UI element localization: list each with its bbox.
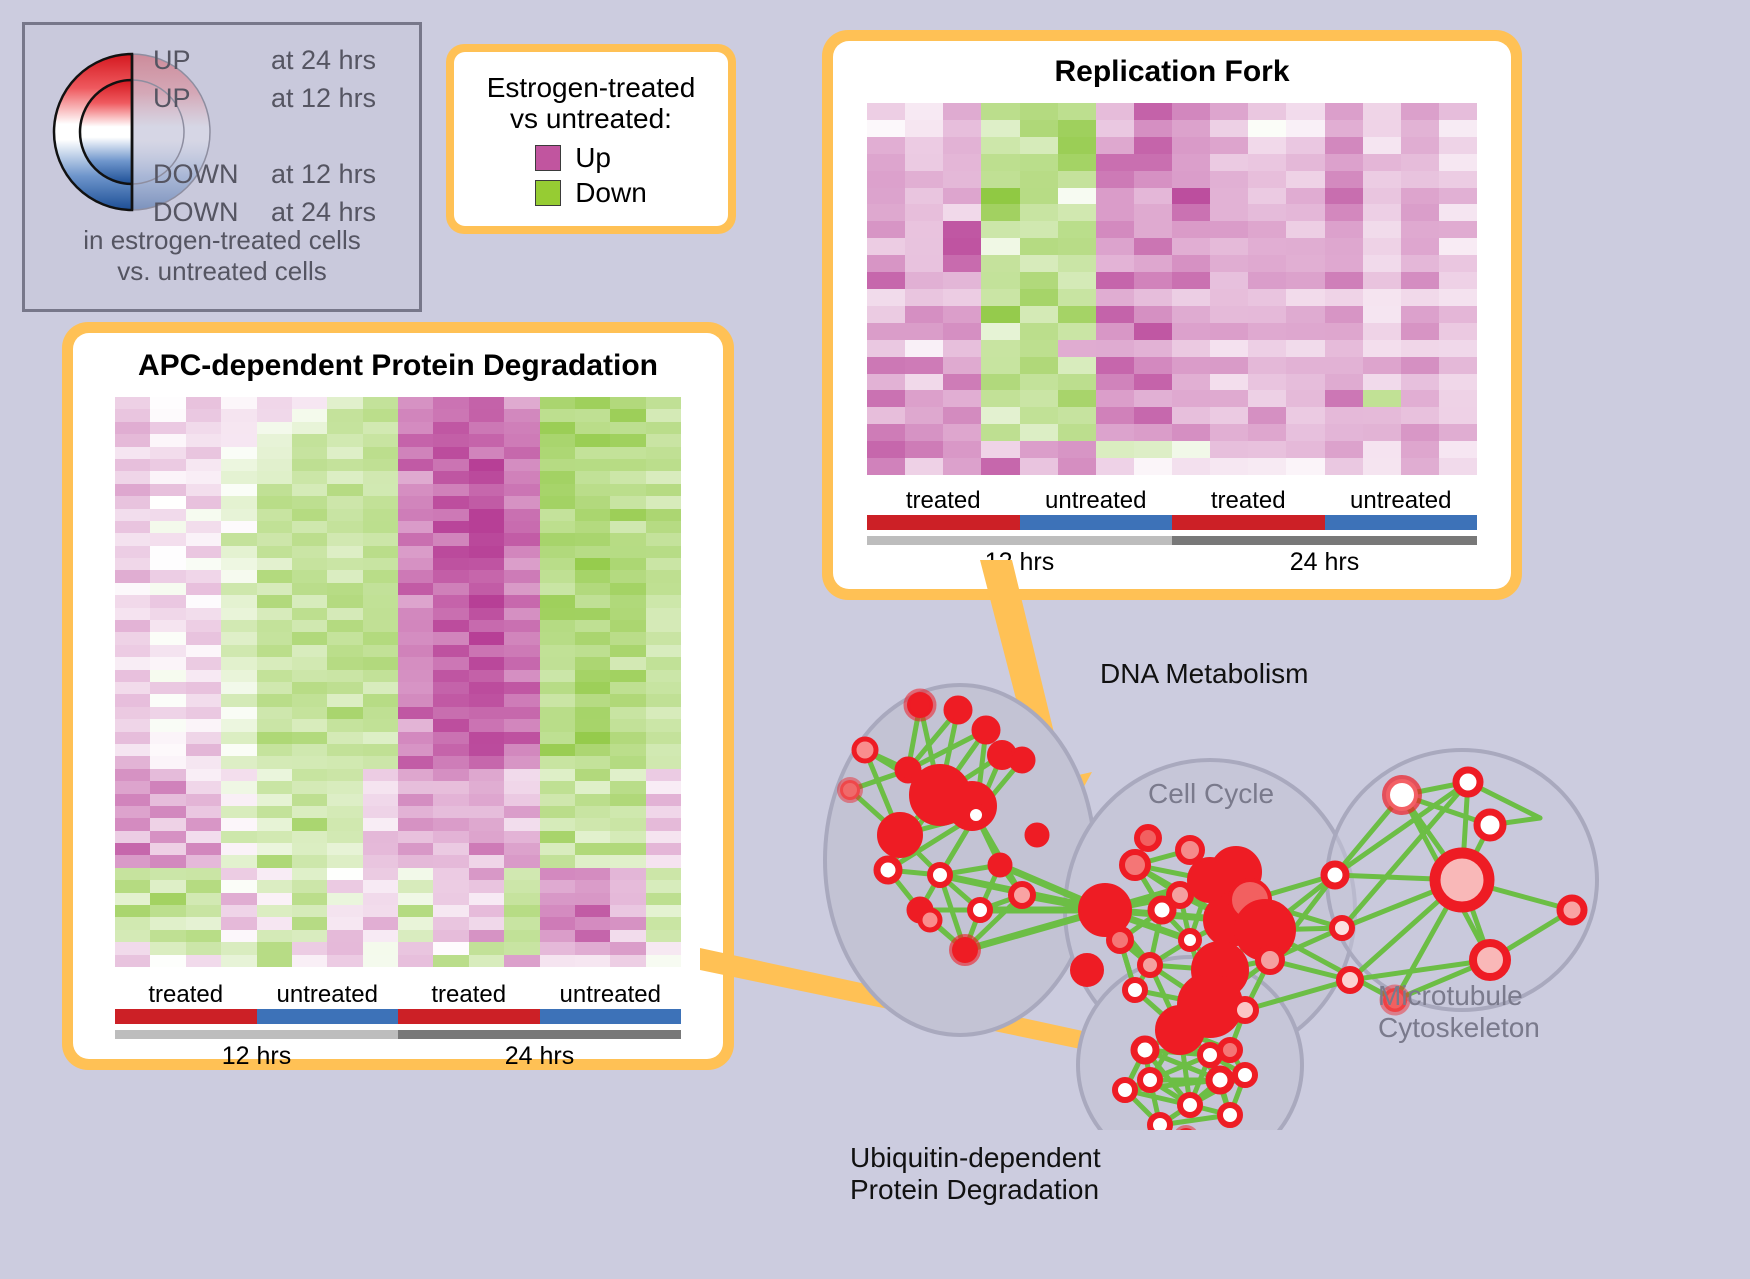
heatmap-cell	[115, 893, 150, 905]
heatmap-cell	[540, 880, 575, 892]
heatmap-cell	[398, 670, 433, 682]
heatmap-cell	[363, 546, 398, 558]
heatmap-cell	[1058, 390, 1096, 407]
heatmap-cell	[1134, 221, 1172, 238]
heatmap-cell	[398, 831, 433, 843]
heatmap-cell	[469, 632, 504, 644]
heatmap-cell	[1096, 272, 1134, 289]
heatmap-cell	[1401, 272, 1439, 289]
heatmap-cell	[186, 670, 221, 682]
apc-degradation-inner: APC-dependent Protein Degradation treate…	[73, 333, 723, 1059]
heatmap-cell	[504, 509, 539, 521]
heatmap-cell	[1058, 255, 1096, 272]
heatmap-cell	[540, 434, 575, 446]
heatmap-cell	[292, 595, 327, 607]
heatmap-cell	[1286, 120, 1324, 137]
heatmap-cell	[867, 323, 905, 340]
heatmap-cell	[575, 905, 610, 917]
heatmap-cell	[1058, 323, 1096, 340]
heatmap-cell	[115, 459, 150, 471]
heatmap-cell	[1020, 441, 1058, 458]
heatmap-cell	[1439, 340, 1477, 357]
heatmap-cell	[646, 719, 681, 731]
heatmap-cell	[575, 831, 610, 843]
heatmap-cell	[981, 238, 1019, 255]
heatmap-cell	[905, 171, 943, 188]
heatmap-cell	[575, 509, 610, 521]
heatmap-cell	[257, 471, 292, 483]
updown-header-line-1: Estrogen-treated	[487, 72, 696, 103]
heatmap-cell	[943, 390, 981, 407]
heatmap-cell	[221, 645, 256, 657]
heatmap-cell	[1172, 323, 1210, 340]
heatmap-cell	[150, 670, 185, 682]
heatmap-cell	[363, 595, 398, 607]
heatmap-cell	[1286, 424, 1324, 441]
heatmap-cell	[1363, 323, 1401, 340]
heatmap-cell	[327, 880, 362, 892]
heatmap-cell	[646, 632, 681, 644]
heatmap-cell	[1325, 188, 1363, 205]
heatmap-cell	[292, 769, 327, 781]
heatmap-cell	[257, 422, 292, 434]
heatmap-cell	[115, 583, 150, 595]
heatmap-cell	[186, 707, 221, 719]
heatmap-cell	[469, 769, 504, 781]
heatmap-cell	[1210, 390, 1248, 407]
heatmap-cell	[221, 546, 256, 558]
heatmap-cell	[221, 595, 256, 607]
heatmap-cell	[398, 855, 433, 867]
heatmap-cell	[150, 880, 185, 892]
heatmap-cell	[221, 447, 256, 459]
heatmap-cell	[1325, 424, 1363, 441]
heatmap-cell	[943, 407, 981, 424]
heatmap-cell	[292, 620, 327, 632]
heatmap-cell	[1020, 221, 1058, 238]
heatmap-cell	[575, 917, 610, 929]
heatmap-cell	[1058, 103, 1096, 120]
heatmap-cell	[433, 868, 468, 880]
heatmap-cell	[1248, 204, 1286, 221]
heatmap-cell	[1248, 120, 1286, 137]
heatmap-cell	[292, 732, 327, 744]
heatmap-cell	[905, 221, 943, 238]
heatmap-cell	[327, 620, 362, 632]
heatmap-cell	[292, 955, 327, 967]
heatmap-cell	[646, 397, 681, 409]
condition-label: treated	[115, 981, 257, 1009]
heatmap-cell	[1401, 188, 1439, 205]
heatmap-cell	[943, 154, 981, 171]
apc-degradation-axis: treateduntreatedtreateduntreated 12 hrs2…	[115, 981, 681, 1071]
heatmap-cell	[1363, 255, 1401, 272]
heatmap-cell	[540, 831, 575, 843]
heatmap-cell	[905, 424, 943, 441]
heatmap-cell	[150, 756, 185, 768]
cluster-label-dna-metabolism: DNA Metabolism	[1100, 658, 1309, 690]
heatmap-cell	[150, 471, 185, 483]
heatmap-cell	[610, 942, 645, 954]
heatmap-cell	[1134, 120, 1172, 137]
heatmap-cell	[1248, 407, 1286, 424]
heatmap-cell	[469, 434, 504, 446]
heatmap-cell	[1020, 357, 1058, 374]
heatmap-cell	[1058, 171, 1096, 188]
heatmap-cell	[327, 682, 362, 694]
heatmap-cell	[540, 409, 575, 421]
heatmap-cell	[867, 289, 905, 306]
heatmap-cell	[1058, 306, 1096, 323]
heatmap-cell	[1286, 204, 1324, 221]
heatmap-cell	[575, 893, 610, 905]
heatmap-cell	[610, 707, 645, 719]
heatmap-cell	[1325, 306, 1363, 323]
heatmap-cell	[981, 171, 1019, 188]
heatmap-cell	[292, 905, 327, 917]
heatmap-cell	[115, 794, 150, 806]
heatmap-cell	[327, 397, 362, 409]
heatmap-cell	[292, 707, 327, 719]
heatmap-cell	[398, 769, 433, 781]
heatmap-cell	[1363, 103, 1401, 120]
heatmap-cell	[943, 188, 981, 205]
heatmap-cell	[1096, 458, 1134, 475]
heatmap-cell	[1401, 154, 1439, 171]
heatmap-cell	[186, 422, 221, 434]
heatmap-cell	[257, 595, 292, 607]
colorbar-legend-rows: UP at 24 hrs UP at 12 hrs DOWN at 12 hrs…	[153, 45, 418, 235]
heatmap-cell	[115, 868, 150, 880]
heatmap-cell	[575, 558, 610, 570]
heatmap-cell	[221, 707, 256, 719]
legend-item-up: Up	[535, 140, 647, 175]
heatmap-cell	[433, 509, 468, 521]
heatmap-cell	[1172, 306, 1210, 323]
heatmap-cell	[504, 645, 539, 657]
heatmap-cell	[433, 930, 468, 942]
heatmap-cell	[1172, 407, 1210, 424]
heatmap-cell	[115, 620, 150, 632]
heatmap-cell	[943, 272, 981, 289]
heatmap-cell	[610, 409, 645, 421]
heatmap-cell	[867, 340, 905, 357]
legend-item-down: Down	[535, 175, 647, 210]
heatmap-cell	[867, 374, 905, 391]
heatmap-cell	[905, 407, 943, 424]
heatmap-cell	[1172, 272, 1210, 289]
heatmap-cell	[646, 645, 681, 657]
heatmap-cell	[943, 204, 981, 221]
heatmap-cell	[221, 682, 256, 694]
heatmap-cell	[292, 570, 327, 582]
heatmap-cell	[504, 570, 539, 582]
heatmap-cell	[257, 781, 292, 793]
heatmap-cell	[1096, 221, 1134, 238]
heatmap-cell	[504, 533, 539, 545]
heatmap-cell	[398, 806, 433, 818]
heatmap-cell	[363, 632, 398, 644]
heatmap-cell	[943, 424, 981, 441]
heatmap-cell	[540, 756, 575, 768]
heatmap-cell	[150, 682, 185, 694]
heatmap-cell	[150, 917, 185, 929]
heatmap-cell	[398, 434, 433, 446]
heatmap-cell	[943, 357, 981, 374]
heatmap-cell	[327, 781, 362, 793]
heatmap-cell	[504, 682, 539, 694]
heatmap-cell	[469, 645, 504, 657]
heatmap-cell	[1172, 154, 1210, 171]
heatmap-cell	[1439, 374, 1477, 391]
heatmap-cell	[1325, 390, 1363, 407]
heatmap-cell	[327, 955, 362, 967]
heatmap-cell	[115, 880, 150, 892]
heatmap-cell	[469, 583, 504, 595]
heatmap-cell	[150, 608, 185, 620]
heatmap-cell	[1286, 340, 1324, 357]
heatmap-cell	[221, 657, 256, 669]
heatmap-cell	[186, 459, 221, 471]
heatmap-cell	[1210, 289, 1248, 306]
heatmap-cell	[115, 422, 150, 434]
heatmap-cell	[115, 732, 150, 744]
heatmap-cell	[610, 769, 645, 781]
heatmap-cell	[1286, 289, 1324, 306]
heatmap-cell	[1020, 188, 1058, 205]
heatmap-cell	[398, 484, 433, 496]
heatmap-cell	[981, 137, 1019, 154]
heatmap-cell	[433, 608, 468, 620]
heatmap-cell	[610, 583, 645, 595]
heatmap-cell	[610, 434, 645, 446]
heatmap-cell	[504, 843, 539, 855]
apc-degradation-title: APC-dependent Protein Degradation	[73, 333, 723, 383]
heatmap-cell	[1439, 188, 1477, 205]
heatmap-cell	[1286, 357, 1324, 374]
heatmap-cell	[504, 769, 539, 781]
heatmap-cell	[610, 632, 645, 644]
heatmap-cell	[327, 632, 362, 644]
heatmap-cell	[1134, 103, 1172, 120]
heatmap-cell	[610, 645, 645, 657]
heatmap-cell	[469, 930, 504, 942]
heatmap-cell	[646, 496, 681, 508]
heatmap-cell	[905, 272, 943, 289]
heatmap-cell	[221, 732, 256, 744]
heatmap-cell	[257, 942, 292, 954]
heatmap-cell	[905, 390, 943, 407]
heatmap-cell	[186, 521, 221, 533]
heatmap-cell	[1058, 374, 1096, 391]
heatmap-cell	[257, 905, 292, 917]
replication-fork-heatmap	[867, 103, 1477, 475]
heatmap-cell	[540, 955, 575, 967]
timepoint-color-segment	[1172, 536, 1477, 545]
heatmap-cell	[610, 422, 645, 434]
heatmap-cell	[1020, 374, 1058, 391]
heatmap-cell	[115, 694, 150, 706]
heatmap-cell	[504, 608, 539, 620]
heatmap-cell	[1172, 103, 1210, 120]
heatmap-cell	[292, 459, 327, 471]
heatmap-cell	[981, 204, 1019, 221]
heatmap-cell	[610, 955, 645, 967]
heatmap-cell	[1363, 424, 1401, 441]
heatmap-cell	[257, 583, 292, 595]
heatmap-cell	[646, 434, 681, 446]
heatmap-cell	[257, 670, 292, 682]
heatmap-cell	[398, 657, 433, 669]
timepoint-labels: 12 hrs24 hrs	[115, 1042, 681, 1071]
heatmap-cell	[1020, 407, 1058, 424]
heatmap-cell	[540, 744, 575, 756]
heatmap-cell	[1172, 374, 1210, 391]
heatmap-cell	[575, 818, 610, 830]
heatmap-cell	[610, 509, 645, 521]
heatmap-cell	[469, 794, 504, 806]
heatmap-cell	[469, 682, 504, 694]
heatmap-cell	[610, 930, 645, 942]
heatmap-cell	[1210, 188, 1248, 205]
heatmap-cell	[1325, 407, 1363, 424]
heatmap-cell	[943, 103, 981, 120]
heatmap-cell	[610, 657, 645, 669]
heatmap-cell	[257, 756, 292, 768]
heatmap-cell	[540, 855, 575, 867]
heatmap-cell	[150, 719, 185, 731]
heatmap-cell	[575, 397, 610, 409]
heatmap-cell	[575, 608, 610, 620]
colorbar-legend-footer: in estrogen-treated cells vs. untreated …	[25, 225, 419, 286]
heatmap-cell	[469, 893, 504, 905]
heatmap-cell	[292, 756, 327, 768]
heatmap-cell	[398, 682, 433, 694]
heatmap-cell	[575, 459, 610, 471]
heatmap-cell	[1172, 137, 1210, 154]
heatmap-cell	[1325, 357, 1363, 374]
heatmap-cell	[540, 645, 575, 657]
heatmap-cell	[327, 744, 362, 756]
heatmap-cell	[646, 620, 681, 632]
heatmap-cell	[1134, 255, 1172, 272]
legend-value: at 24 hrs	[271, 45, 376, 76]
heatmap-cell	[1325, 238, 1363, 255]
heatmap-cell	[540, 632, 575, 644]
heatmap-cell	[610, 744, 645, 756]
heatmap-cell	[115, 558, 150, 570]
heatmap-cell	[1363, 441, 1401, 458]
heatmap-cell	[398, 546, 433, 558]
heatmap-cell	[540, 670, 575, 682]
heatmap-cell	[1325, 171, 1363, 188]
heatmap-cell	[469, 447, 504, 459]
heatmap-cell	[469, 806, 504, 818]
heatmap-cell	[327, 434, 362, 446]
heatmap-cell	[221, 744, 256, 756]
heatmap-cell	[292, 917, 327, 929]
heatmap-cell	[150, 744, 185, 756]
heatmap-cell	[1096, 204, 1134, 221]
heatmap-cell	[1172, 255, 1210, 272]
heatmap-cell	[363, 955, 398, 967]
heatmap-cell	[981, 188, 1019, 205]
heatmap-cell	[1439, 272, 1477, 289]
heatmap-cell	[1210, 137, 1248, 154]
heatmap-cell	[504, 632, 539, 644]
heatmap-cell	[115, 434, 150, 446]
pathway-network-diagram: DNA Metabolism Cell Cycle Microtubule Cy…	[790, 610, 1750, 1130]
heatmap-cell	[292, 533, 327, 545]
heatmap-cell	[1286, 137, 1324, 154]
heatmap-cell	[1439, 171, 1477, 188]
heatmap-cell	[1248, 238, 1286, 255]
heatmap-cell	[327, 509, 362, 521]
heatmap-cell	[469, 732, 504, 744]
heatmap-cell	[867, 154, 905, 171]
heatmap-cell	[186, 570, 221, 582]
heatmap-cell	[1058, 289, 1096, 306]
heatmap-cell	[433, 459, 468, 471]
heatmap-cell	[1020, 238, 1058, 255]
heatmap-cell	[257, 955, 292, 967]
heatmap-cell	[433, 657, 468, 669]
replication-fork-panel: Replication Fork treateduntreatedtreated…	[822, 30, 1522, 600]
heatmap-cell	[1439, 137, 1477, 154]
heatmap-cell	[504, 409, 539, 421]
cluster-label-microtubule: Microtubule Cytoskeleton	[1378, 980, 1540, 1044]
heatmap-cell	[504, 397, 539, 409]
heatmap-cell	[115, 496, 150, 508]
heatmap-cell	[1096, 154, 1134, 171]
heatmap-cell	[292, 521, 327, 533]
heatmap-cell	[1058, 407, 1096, 424]
heatmap-cell	[646, 595, 681, 607]
heatmap-cell	[1096, 374, 1134, 391]
heatmap-cell	[646, 769, 681, 781]
heatmap-cell	[575, 546, 610, 558]
heatmap-cell	[221, 422, 256, 434]
heatmap-cell	[469, 880, 504, 892]
heatmap-cell	[575, 942, 610, 954]
heatmap-cell	[540, 459, 575, 471]
heatmap-cell	[1325, 137, 1363, 154]
heatmap-cell	[1401, 323, 1439, 340]
heatmap-cell	[292, 608, 327, 620]
heatmap-cell	[575, 422, 610, 434]
heatmap-cell	[433, 942, 468, 954]
heatmap-cell	[115, 447, 150, 459]
heatmap-cell	[469, 843, 504, 855]
heatmap-cell	[257, 521, 292, 533]
heatmap-cell	[1096, 340, 1134, 357]
heatmap-cell	[257, 769, 292, 781]
heatmap-cell	[943, 171, 981, 188]
heatmap-cell	[469, 719, 504, 731]
heatmap-cell	[292, 818, 327, 830]
heatmap-cell	[115, 521, 150, 533]
heatmap-cell	[610, 546, 645, 558]
heatmap-cell	[398, 471, 433, 483]
heatmap-cell	[257, 533, 292, 545]
heatmap-cell	[398, 880, 433, 892]
updown-legend-inner: Estrogen-treated vs untreated: Up Down	[454, 52, 728, 226]
heatmap-cell	[1286, 272, 1324, 289]
heatmap-cell	[943, 221, 981, 238]
heatmap-cell	[646, 794, 681, 806]
heatmap-cell	[150, 509, 185, 521]
heatmap-cell	[469, 422, 504, 434]
